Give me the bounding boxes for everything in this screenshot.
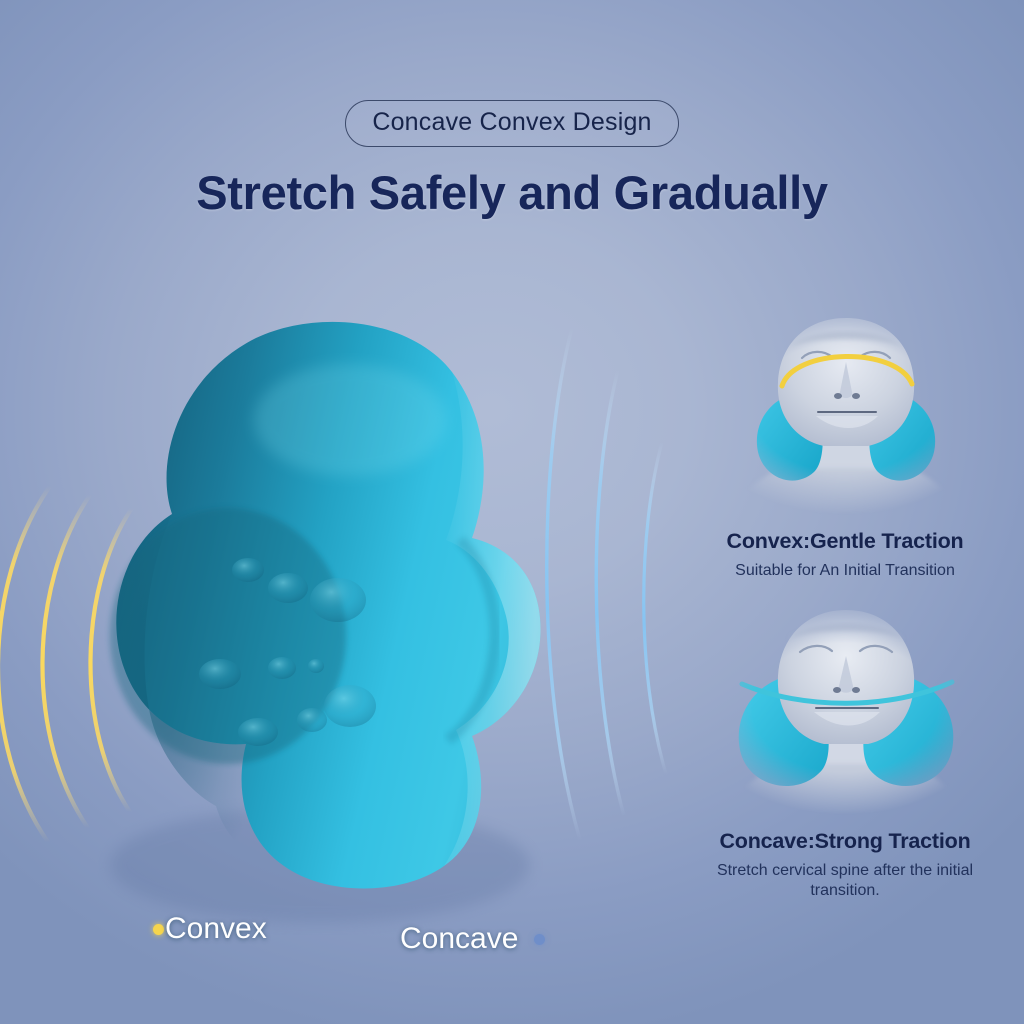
face-with-pillow-concave-icon — [690, 600, 1000, 815]
design-badge: Concave Convex Design — [345, 100, 678, 147]
product-illustration: Convex Concave — [20, 300, 680, 940]
product-infographic: Concave Convex Design Stretch Safely and… — [0, 0, 1024, 1024]
concave-label: Concave — [400, 922, 518, 956]
panel-concave: Concave:Strong Traction Stretch cervical… — [690, 600, 1000, 901]
convex-label: Convex — [165, 912, 267, 946]
convex-face-illustration — [690, 300, 1000, 515]
concave-wave-arcs-icon — [20, 300, 680, 940]
panel-concave-subtitle: Stretch cervical spine after the initial… — [690, 861, 1000, 901]
panel-convex-title: Convex:Gentle Traction — [690, 529, 1000, 554]
convex-marker-dot — [153, 924, 164, 935]
panel-concave-title: Concave:Strong Traction — [690, 829, 1000, 854]
face-with-pillow-convex-icon — [690, 300, 1000, 515]
page-title: Stretch Safely and Gradually — [0, 165, 1024, 220]
badge-container: Concave Convex Design — [0, 100, 1024, 147]
panel-convex-subtitle: Suitable for An Initial Transition — [690, 561, 1000, 581]
concave-marker-dot — [534, 934, 545, 945]
concave-face-illustration — [690, 600, 1000, 815]
panel-convex: Convex:Gentle Traction Suitable for An I… — [690, 300, 1000, 581]
